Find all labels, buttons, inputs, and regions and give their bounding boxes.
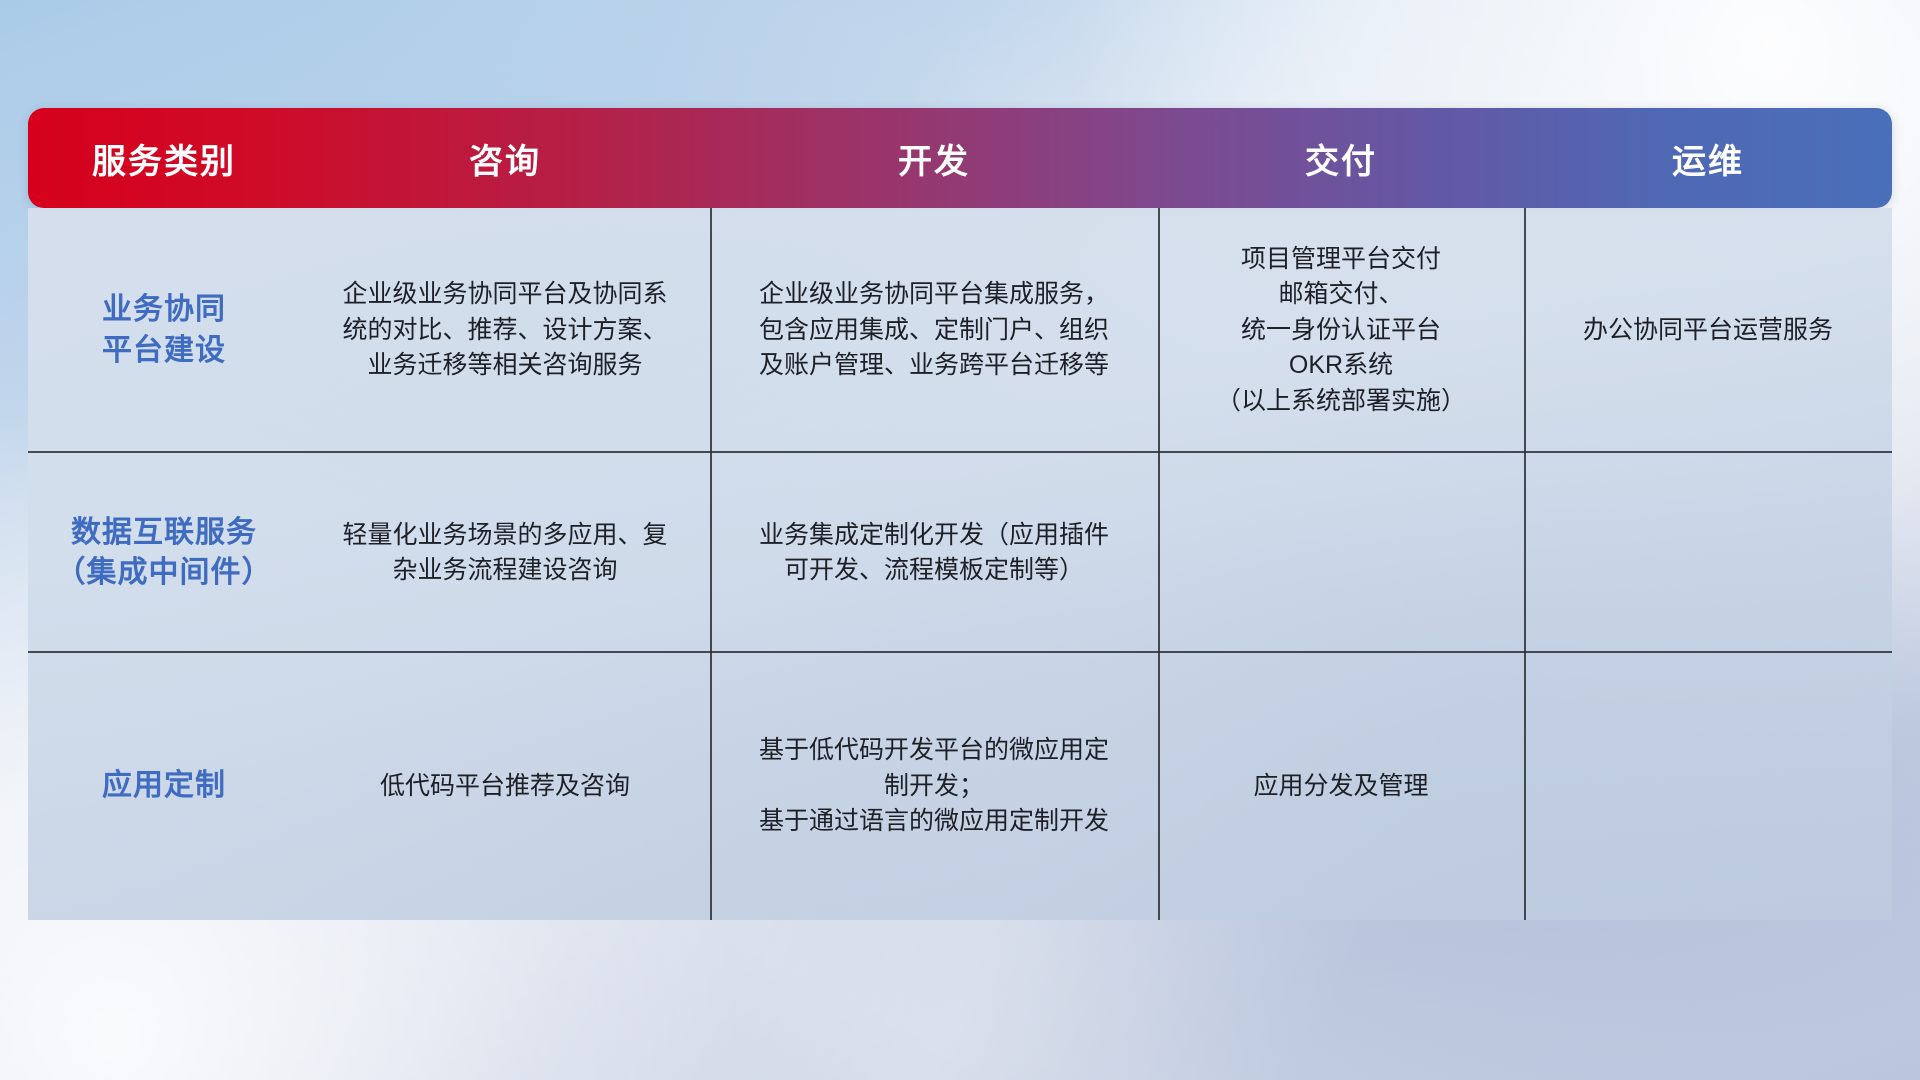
row-label-data-interconnect: 数据互联服务 （集成中间件） [28,453,300,653]
column-header-development: 开发 [710,134,1158,183]
cell-r2-development: 基于低代码开发平台的微应用定 制开发； 基于通过语言的微应用定制开发 [710,653,1158,920]
column-divider [710,653,712,920]
table-body: 业务协同 平台建设 企业级业务协同平台及协同系 统的对比、推荐、设计方案、 业务… [28,208,1892,920]
cell-r1-consulting: 轻量化业务场景的多应用、复 杂业务流程建设咨询 [300,453,710,653]
column-divider [1524,653,1526,920]
column-header-delivery: 交付 [1158,134,1524,183]
column-divider [710,208,712,453]
cell-r0-consulting: 企业级业务协同平台及协同系 统的对比、推荐、设计方案、 业务迁移等相关咨询服务 [300,208,710,453]
column-divider [1524,208,1526,453]
cell-r0-operations: 办公协同平台运营服务 [1524,208,1892,453]
cell-r1-operations [1524,453,1892,653]
cell-r2-consulting: 低代码平台推荐及咨询 [300,653,710,920]
cell-r0-delivery: 项目管理平台交付 邮箱交付、 统一身份认证平台 OKR系统 （以上系统部署实施） [1158,208,1524,453]
service-matrix-table: 服务类别 咨询 开发 交付 运维 业务协同 平台建设 企业级业务协同平台及协同系… [28,108,1892,948]
table-header-row: 服务类别 咨询 开发 交付 运维 [28,108,1892,208]
column-header-consulting: 咨询 [300,134,710,183]
cell-r0-development: 企业级业务协同平台集成服务， 包含应用集成、定制门户、组织 及账户管理、业务跨平… [710,208,1158,453]
table-row: 业务协同 平台建设 企业级业务协同平台及协同系 统的对比、推荐、设计方案、 业务… [28,208,1892,453]
column-divider [1158,653,1160,920]
cell-r1-development: 业务集成定制化开发（应用插件 可开发、流程模板定制等） [710,453,1158,653]
column-divider [1158,453,1160,653]
cell-r2-delivery: 应用分发及管理 [1158,653,1524,920]
row-label-business-collaboration: 业务协同 平台建设 [28,208,300,453]
column-divider [1158,208,1160,453]
row-label-app-customization: 应用定制 [28,653,300,920]
cell-r1-delivery [1158,453,1524,653]
column-divider [710,453,712,653]
table-row: 应用定制 低代码平台推荐及咨询 基于低代码开发平台的微应用定 制开发； 基于通过… [28,653,1892,920]
column-divider [1524,453,1526,653]
cell-r2-operations [1524,653,1892,920]
table-row: 数据互联服务 （集成中间件） 轻量化业务场景的多应用、复 杂业务流程建设咨询 业… [28,453,1892,653]
column-header-category: 服务类别 [28,134,300,183]
column-header-operations: 运维 [1524,134,1892,183]
